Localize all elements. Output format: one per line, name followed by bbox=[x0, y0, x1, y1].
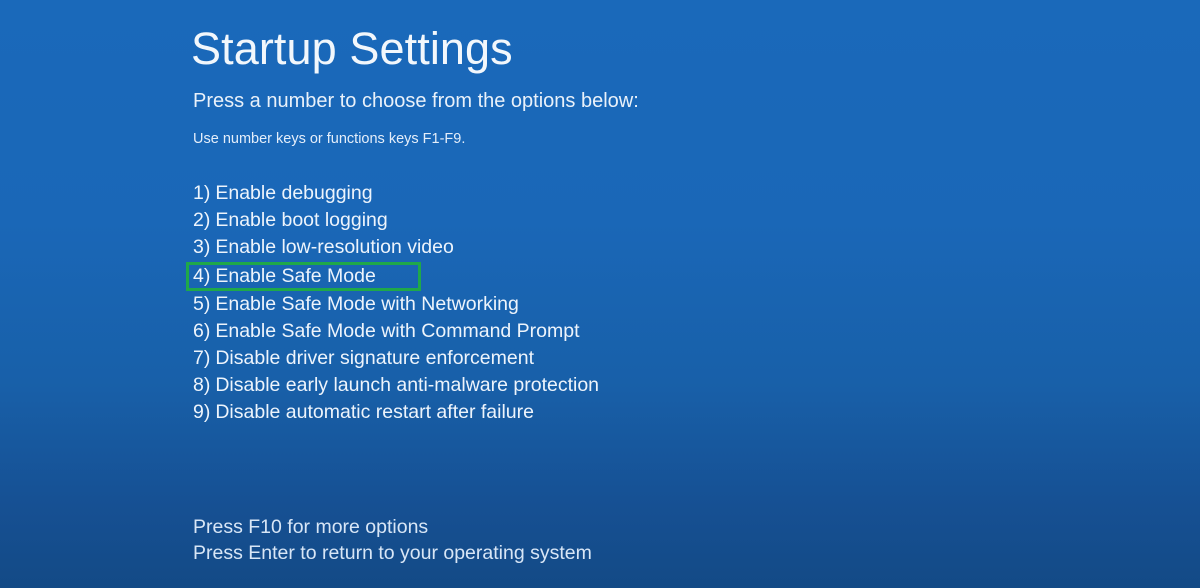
option-label: Enable Safe Mode with Networking bbox=[215, 293, 519, 315]
hint-text: Use number keys or functions keys F1-F9. bbox=[193, 131, 465, 147]
startup-option-5[interactable]: 5)Enable Safe Mode with Networking bbox=[193, 291, 893, 318]
option-label: Disable automatic restart after failure bbox=[215, 401, 534, 423]
footer: Press F10 for more options Press Enter t… bbox=[193, 514, 592, 566]
option-number: 3) bbox=[193, 236, 210, 258]
startup-option-2[interactable]: 2)Enable boot logging bbox=[193, 207, 893, 234]
option-label: Enable boot logging bbox=[215, 209, 387, 231]
option-label: Disable early launch anti-malware protec… bbox=[215, 374, 599, 396]
option-label: Enable debugging bbox=[215, 182, 372, 204]
option-label: Enable Safe Mode with Command Prompt bbox=[215, 320, 579, 342]
startup-options-list: 1)Enable debugging2)Enable boot logging3… bbox=[193, 180, 893, 427]
instruction-text: Press a number to choose from the option… bbox=[193, 90, 639, 113]
startup-option-9[interactable]: 9)Disable automatic restart after failur… bbox=[193, 399, 893, 426]
footer-more-options: Press F10 for more options bbox=[193, 514, 592, 540]
footer-return-to-os: Press Enter to return to your operating … bbox=[193, 540, 592, 566]
option-number: 4) bbox=[193, 265, 210, 287]
startup-option-1[interactable]: 1)Enable debugging bbox=[193, 180, 893, 207]
option-number: 1) bbox=[193, 182, 210, 204]
startup-option-8[interactable]: 8)Disable early launch anti-malware prot… bbox=[193, 372, 893, 399]
page-title: Startup Settings bbox=[191, 24, 513, 74]
startup-option-4[interactable]: 4)Enable Safe Mode bbox=[186, 262, 421, 291]
option-number: 5) bbox=[193, 293, 210, 315]
startup-option-3[interactable]: 3)Enable low-resolution video bbox=[193, 234, 893, 261]
option-number: 9) bbox=[193, 401, 210, 423]
option-number: 2) bbox=[193, 209, 210, 231]
startup-option-6[interactable]: 6)Enable Safe Mode with Command Prompt bbox=[193, 318, 893, 345]
option-number: 6) bbox=[193, 320, 210, 342]
option-number: 7) bbox=[193, 347, 210, 369]
option-label: Enable Safe Mode bbox=[215, 265, 375, 287]
option-label: Enable low-resolution video bbox=[215, 236, 453, 258]
option-number: 8) bbox=[193, 374, 210, 396]
option-label: Disable driver signature enforcement bbox=[215, 347, 534, 369]
startup-settings-screen: Startup Settings Press a number to choos… bbox=[0, 0, 1200, 588]
startup-option-7[interactable]: 7)Disable driver signature enforcement bbox=[193, 345, 893, 372]
